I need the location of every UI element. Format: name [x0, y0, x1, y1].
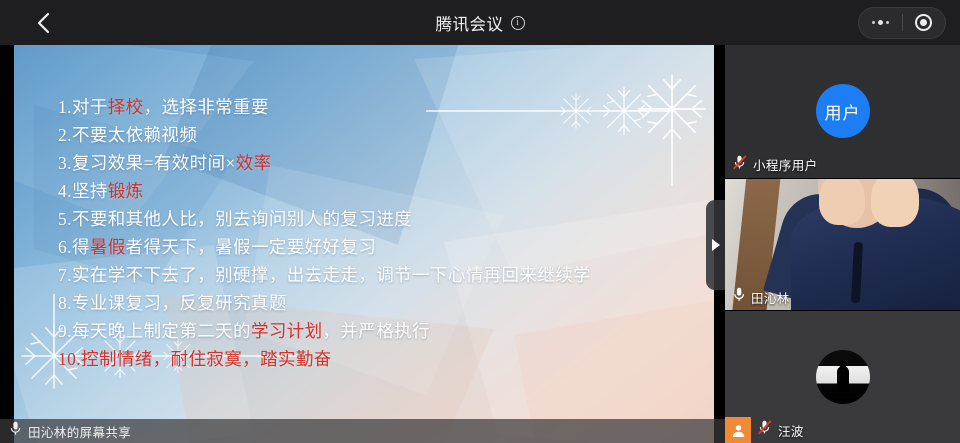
participant-name: 田沁林 [751, 288, 790, 307]
participant-tile[interactable]: 用户 小程序用户 [725, 45, 960, 178]
slide-line: 1.对于择校，选择非常重要 [58, 93, 698, 121]
avatar: 用户 [816, 84, 870, 138]
slide-line-number: 6. [58, 237, 72, 257]
navigation-bar: 腾讯会议 i [0, 0, 960, 45]
slide-text-run: ，选择非常重要 [144, 97, 269, 117]
slide-line-number: 4. [58, 181, 72, 201]
slide-text-run: 每天晚上制定第二天的 [72, 321, 251, 341]
tencent-meeting-miniprogram: 腾讯会议 i [0, 0, 960, 443]
slide-line-number: 7. [58, 265, 72, 285]
slide-text-run: 不要太依赖视频 [72, 125, 197, 145]
participant-tile[interactable]: 汪波 [725, 310, 960, 443]
slide-text-run: 复习效果=有效时间× [72, 153, 236, 173]
slide-line: 3.复习效果=有效时间×效率 [58, 149, 698, 177]
slide-text-highlight: 暑假 [90, 237, 126, 257]
slide-text-run: ，并严格执行 [323, 321, 430, 341]
slide-line: 7.实在学不下去了，别硬撑，出去走走，调节一下心情再回来继续学 [58, 261, 698, 289]
screen-share-status-bar: 田沁林的屏幕共享 [0, 419, 725, 443]
panel-collapse-handle[interactable] [706, 200, 725, 290]
more-dots-icon[interactable] [859, 20, 902, 26]
participant-tile[interactable]: 田沁林 [725, 178, 960, 311]
slide-line-number: 8. [58, 293, 72, 313]
slide-text-highlight: 效率 [236, 153, 272, 173]
microphone-icon [733, 287, 745, 307]
screen-share-label: 田沁林的屏幕共享 [28, 422, 131, 441]
slide-line-number: 5. [58, 209, 72, 229]
slide-line: 9.每天晚上制定第二天的学习计划，并严格执行 [58, 317, 698, 345]
slide-text-highlight: 择校 [108, 97, 144, 117]
slide-line-number: 10. [58, 349, 81, 369]
slide-text-run: 坚持 [72, 181, 108, 201]
participant-footer: 汪波 [725, 417, 960, 443]
participant-footer: 小程序用户 [725, 152, 960, 178]
shared-screen-stage[interactable]: 1.对于择校，选择非常重要2.不要太依赖视频3.复习效果=有效时间×效率4.坚持… [0, 45, 725, 443]
slide-line-number: 9. [58, 321, 72, 341]
slide-text-run: 者得天下，暑假一定要好好复习 [126, 237, 377, 257]
slide-text-highlight: 锻炼 [108, 181, 144, 201]
slide-line-number: 2. [58, 125, 72, 145]
page-title-text: 腾讯会议 [436, 11, 504, 35]
slide-line: 5.不要和其他人比，别去询问别人的复习进度 [58, 205, 698, 233]
slide-text-run: 不要和其他人比，别去询问别人的复习进度 [72, 209, 412, 229]
microphone-muted-icon [758, 420, 772, 440]
participant-name: 小程序用户 [753, 155, 818, 174]
info-icon[interactable]: i [511, 16, 525, 30]
avatar-initials: 用户 [825, 99, 861, 124]
video-hand-right [871, 178, 919, 227]
video-hand-left [819, 178, 865, 226]
chevron-right-icon [712, 239, 720, 251]
miniprogram-capsule [858, 7, 946, 39]
participant-rail: 用户 小程序用户 [725, 45, 960, 443]
shared-slide: 1.对于择校，选择非常重要2.不要太依赖视频3.复习效果=有效时间×效率4.坚持… [14, 45, 714, 443]
page-title: 腾讯会议 i [0, 11, 960, 35]
capsule-close-target-icon[interactable] [903, 14, 946, 31]
microphone-muted-icon [733, 155, 747, 175]
slide-line: 8.专业课复习，反复研究真题 [58, 289, 698, 317]
slide-line: 2.不要太依赖视频 [58, 121, 698, 149]
slide-text-block: 1.对于择校，选择非常重要2.不要太依赖视频3.复习效果=有效时间×效率4.坚持… [58, 93, 698, 373]
slide-text-run: 得 [72, 237, 90, 257]
slide-line: 4.坚持锻炼 [58, 177, 698, 205]
avatar [816, 350, 870, 404]
slide-line: 6.得暑假者得天下，暑假一定要好好复习 [58, 233, 698, 261]
slide-text-highlight: 控制情绪，耐住寂寞，踏实勤奋 [81, 349, 332, 369]
slide-text-run: 对于 [72, 97, 108, 117]
slide-line-number: 1. [58, 97, 72, 117]
slide-text-run: 实在学不下去了，别硬撑，出去走走，调节一下心情再回来继续学 [72, 265, 591, 285]
slide-line-number: 3. [58, 153, 72, 173]
slide-text-run: 专业课复习，反复研究真题 [72, 293, 287, 313]
participant-name: 汪波 [778, 421, 804, 440]
microphone-icon [10, 421, 21, 441]
participant-footer: 田沁林 [725, 284, 960, 310]
avatar-silhouette [837, 366, 849, 392]
slide-line: 10.控制情绪，耐住寂寞，踏实勤奋 [58, 345, 698, 373]
slide-text-highlight: 学习计划 [251, 321, 323, 341]
